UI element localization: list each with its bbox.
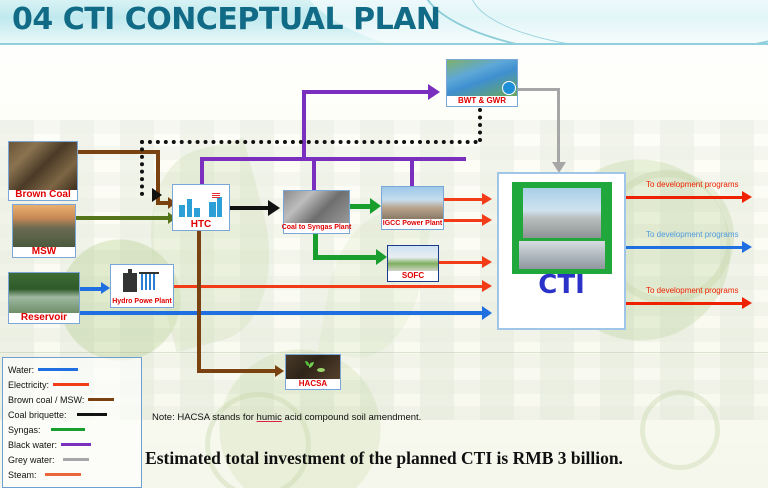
node-label-hacsa: HACSA (298, 379, 328, 389)
line-blackwater-syngas (312, 157, 316, 192)
line-msw-htc (76, 216, 170, 220)
output-label-2: To development programs (646, 230, 739, 239)
line-blackwater-top (302, 90, 432, 94)
arrow-htc-syngas (268, 200, 280, 216)
note-underlined: humic (257, 412, 282, 423)
node-label-sofc: SOFC (401, 271, 425, 281)
line-cti-output-2 (626, 246, 646, 249)
node-coal-to-syngas-plant[interactable]: Coal to Syngas Plant (283, 190, 350, 234)
node-cti[interactable]: CTI (497, 172, 626, 330)
note-suffix: acid compound soil amendment. (282, 412, 421, 423)
hydro-plant-icon (119, 269, 165, 293)
section-divider (0, 352, 768, 353)
node-thumbnail-hacsa (286, 355, 340, 379)
node-thumbnail-sofc (388, 246, 438, 271)
node-label-htc: HTC (190, 220, 213, 230)
line-blackwater-riser (302, 90, 306, 160)
arrow-output-1 (742, 191, 752, 203)
footer-statement: Estimated total investment of the planne… (0, 448, 768, 469)
arrow-reservoir-cti (482, 306, 492, 320)
node-hydro-power-plant[interactable]: Hydro Powe Plant (110, 264, 174, 308)
line-output-1 (645, 196, 745, 199)
arrow-hydro-cti (482, 280, 492, 292)
line-blackwater-igcc (410, 157, 414, 188)
legend-swatch-steam (45, 473, 81, 476)
line-igcc-cti-2 (444, 219, 484, 222)
line-htc-hacsa-h (197, 369, 279, 373)
line-hydro-cti (174, 285, 484, 288)
node-thumbnail-brown-coal (9, 142, 77, 190)
line-reservoir-cti-h (44, 311, 484, 315)
node-thumbnail-bwt (447, 60, 517, 96)
legend-row: Electricity: (8, 377, 141, 392)
line-output-2 (645, 246, 745, 249)
legend-row: Steam: (8, 467, 141, 482)
slide-header: 04 CTI CONCEPTUAL PLAN (0, 0, 768, 44)
legend-swatch-electricity (53, 383, 89, 386)
legend-label-electricity: Electricity: (8, 380, 49, 390)
legend-swatch-water (38, 368, 78, 371)
cti-photo-upper (523, 188, 601, 238)
node-reservoir[interactable]: Reservoir (8, 272, 80, 324)
line-browncoal-htc (78, 150, 160, 154)
node-hacsa[interactable]: HACSA (285, 354, 341, 390)
arrow-sofc-cti (482, 256, 492, 268)
htc-plant-icon (176, 192, 226, 218)
node-bwt-gwr[interactable]: BWT & GWR (446, 59, 518, 107)
node-htc[interactable]: HTC (172, 184, 230, 231)
node-thumbnail-igcc (382, 187, 443, 219)
arrow-blackwater-bwt (428, 84, 440, 100)
arrow-syngas-igcc (370, 198, 381, 214)
node-thumbnail-htc (173, 185, 229, 220)
node-msw[interactable]: MSW (12, 204, 76, 258)
background-ring (205, 392, 311, 488)
line-blackwater-bus (200, 157, 466, 161)
line-cti-output-3 (626, 302, 646, 305)
line-greywater-v (557, 88, 560, 164)
line-dotted-h-top (140, 140, 478, 144)
output-label-3: To development programs (646, 286, 739, 295)
node-label-brown-coal: Brown Coal (14, 190, 72, 200)
legend-label-syngas: Syngas: (8, 425, 41, 435)
node-label-bwt: BWT & GWR (457, 96, 507, 106)
legend-label-water: Water: (8, 365, 34, 375)
node-label-syngas: Coal to Syngas Plant (281, 223, 353, 233)
legend-swatch-syngas (51, 428, 85, 431)
water-badge-icon (502, 81, 516, 95)
line-dotted-v-right (478, 108, 482, 142)
cti-photo-lower (519, 241, 605, 269)
node-label-igcc: IGCC Power Plant (382, 219, 444, 229)
note-prefix: Note: HACSA stands for (152, 412, 257, 423)
legend-swatch-blackwater (61, 443, 91, 446)
node-brown-coal[interactable]: Brown Coal (8, 141, 78, 201)
node-label-msw: MSW (31, 247, 57, 257)
cti-green-panel (512, 182, 612, 274)
line-greywater-h (518, 88, 560, 91)
arrow-output-2 (742, 241, 752, 253)
output-label-1: To development programs (646, 180, 739, 189)
header-underline (0, 43, 768, 45)
node-label-hydro: Hydro Powe Plant (111, 297, 173, 307)
legend-swatch-browncoal (88, 398, 114, 401)
arrow-igcc-cti-2 (482, 214, 492, 226)
line-sofc-cti (439, 261, 484, 264)
line-igcc-cti-1 (444, 198, 484, 201)
arrow-syngas-sofc (376, 249, 387, 265)
legend-label-briquette: Coal briquette: (8, 410, 67, 420)
slide-canvas: 04 CTI CONCEPTUAL PLAN (0, 0, 768, 488)
legend-row: Water: (8, 362, 141, 377)
node-thumbnail-reservoir (9, 273, 79, 313)
legend-row: Syngas: (8, 422, 141, 437)
node-igcc-power-plant[interactable]: IGCC Power Plant (381, 186, 444, 230)
legend-label-steam: Steam: (8, 470, 37, 480)
line-syngas-sofc-h (313, 255, 379, 260)
node-label-cti: CTI (537, 280, 586, 290)
note-text: Note: HACSA stands for humic acid compou… (152, 412, 421, 423)
line-output-3 (645, 302, 745, 305)
line-htc-hacsa-v (197, 231, 201, 373)
node-thumbnail-msw (13, 205, 75, 247)
node-sofc[interactable]: SOFC (387, 245, 439, 282)
legend-swatch-briquette (77, 413, 107, 416)
arrow-dotted-htc (152, 188, 162, 202)
line-blackwater-htc (200, 157, 204, 187)
node-thumbnail-hydro (111, 265, 173, 297)
node-thumbnail-syngas (284, 191, 349, 223)
arrow-reservoir-hydro (101, 282, 110, 294)
arrow-igcc-cti-1 (482, 193, 492, 205)
legend-row: Coal briquette: (8, 407, 141, 422)
legend-label-browncoal: Brown coal / MSW: (8, 395, 84, 405)
arrow-htc-hacsa (275, 365, 284, 377)
line-dotted-v-left (140, 140, 144, 196)
legend-row: Brown coal / MSW: (8, 392, 141, 407)
arrow-output-3 (742, 297, 752, 309)
sprout-icon (300, 358, 326, 376)
page-title: 04 CTI CONCEPTUAL PLAN (12, 2, 441, 37)
node-label-reservoir: Reservoir (20, 313, 68, 323)
line-htc-syngas (230, 206, 272, 210)
line-cti-output-1 (626, 196, 646, 199)
